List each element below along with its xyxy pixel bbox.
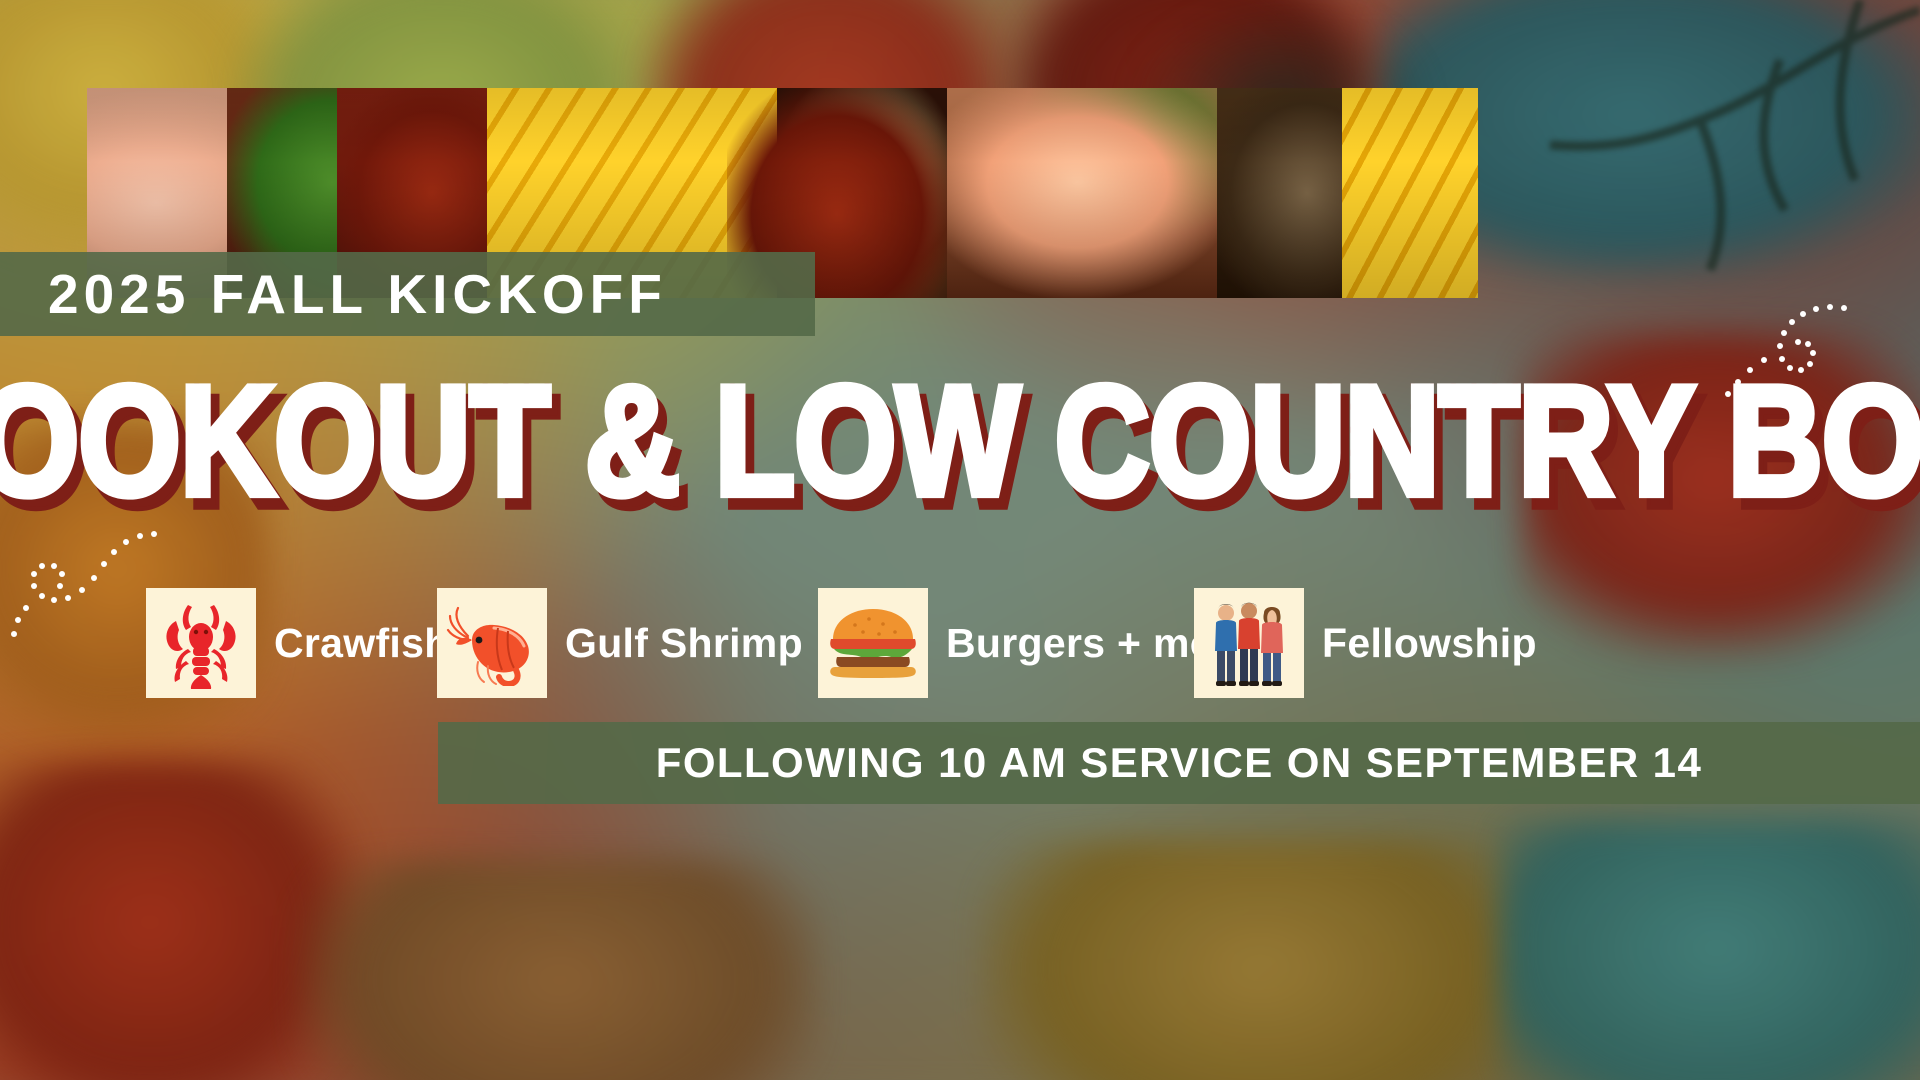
features-row: Crawfish bbox=[0, 588, 1920, 698]
feature-label: Fellowship bbox=[1322, 620, 1537, 667]
top-banner: 2025 FALL KICKOFF bbox=[0, 252, 815, 336]
bottom-banner-text: FOLLOWING 10 AM SERVICE ON SEPTEMBER 14 bbox=[656, 739, 1702, 787]
shrimp-icon bbox=[446, 600, 538, 686]
crawfish-icon bbox=[158, 597, 244, 689]
bottom-banner: FOLLOWING 10 AM SERVICE ON SEPTEMBER 14 bbox=[438, 722, 1920, 804]
feature-shrimp: Gulf Shrimp bbox=[437, 588, 803, 698]
top-banner-text: 2025 FALL KICKOFF bbox=[48, 262, 667, 326]
leaf-blur-teal-bottomright bbox=[1500, 820, 1920, 1080]
flyer-canvas: 2025 FALL KICKOFF COOKOUT & LOW COUNTRY … bbox=[0, 0, 1920, 1080]
dotted-swirl-topright-icon bbox=[1702, 300, 1852, 410]
feature-crawfish: Crawfish bbox=[146, 588, 450, 698]
people-icon bbox=[1206, 597, 1292, 689]
feature-label: Crawfish bbox=[274, 620, 450, 667]
feature-burgers: Burgers + more bbox=[818, 588, 1254, 698]
burger-tile bbox=[818, 588, 928, 698]
people-tile bbox=[1194, 588, 1304, 698]
leaf-blur-gold-bottom bbox=[980, 840, 1540, 1080]
leaf-blur-brown-bottom bbox=[300, 860, 820, 1080]
branch-silhouette bbox=[1400, 0, 1920, 300]
feature-fellowship: Fellowship bbox=[1194, 588, 1537, 698]
shrimp-tile bbox=[437, 588, 547, 698]
burger-icon bbox=[827, 607, 919, 679]
feature-label: Gulf Shrimp bbox=[565, 620, 803, 667]
crawfish-tile bbox=[146, 588, 256, 698]
